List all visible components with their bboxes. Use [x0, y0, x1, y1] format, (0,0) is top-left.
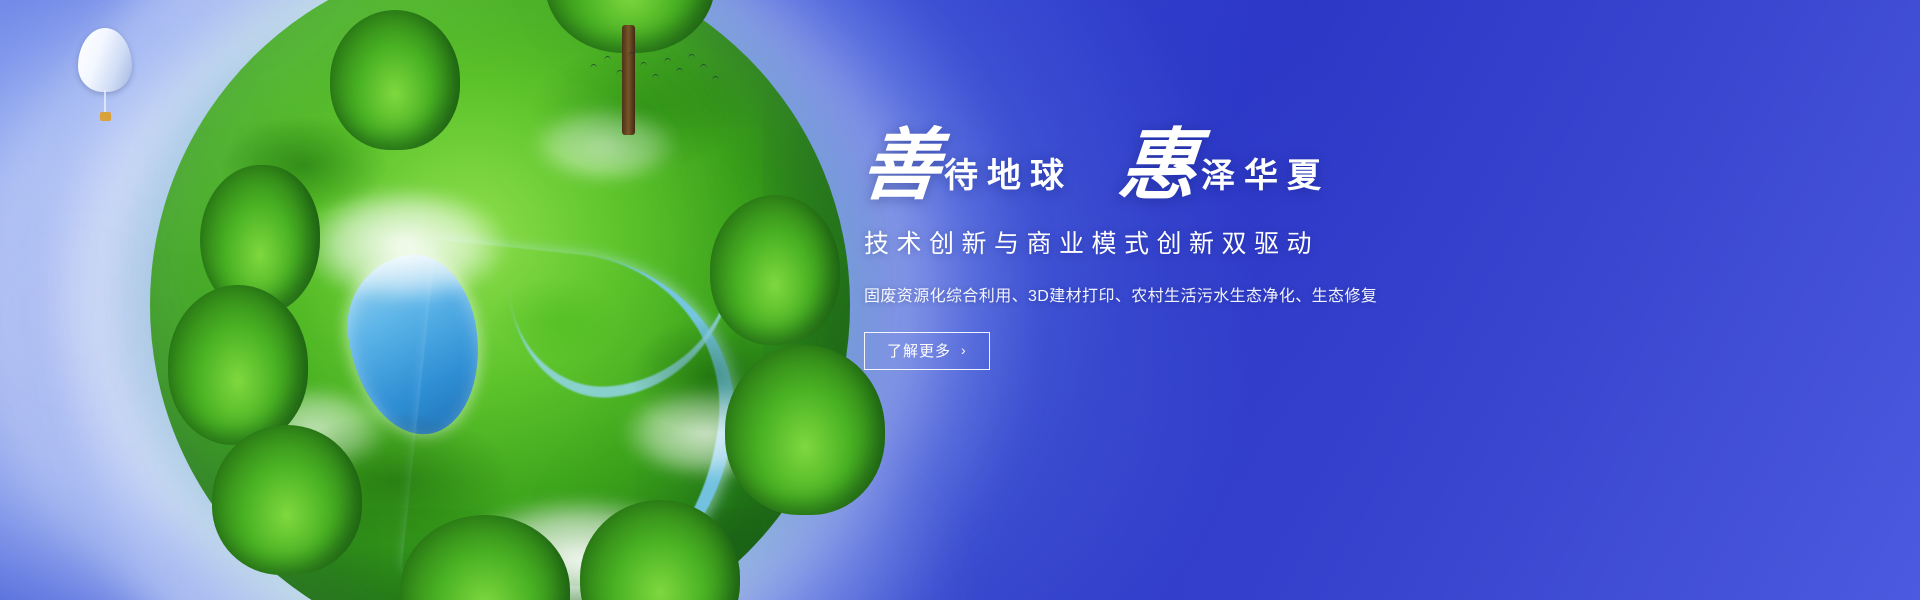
river-branch-shape [504, 197, 747, 404]
tree-shape [168, 285, 308, 445]
hero-banner: 善 待地球 惠 泽华夏 技术创新与商业模式创新双驱动 固废资源化综合利用、3D建… [0, 0, 1920, 600]
hero-copy: 善 待地球 惠 泽华夏 技术创新与商业模式创新双驱动 固废资源化综合利用、3D建… [862, 130, 1482, 370]
balloon-rope-shape [104, 90, 106, 114]
tree-shape [330, 10, 460, 150]
cloud-puff [530, 105, 680, 185]
tree-shape [710, 195, 840, 345]
headline-brush-char-1: 善 [859, 130, 947, 202]
hot-air-balloon-icon [78, 28, 138, 138]
learn-more-label: 了解更多 [887, 340, 951, 361]
headline-rest-1: 待地球 [944, 159, 1073, 202]
lake-shape [338, 247, 490, 443]
headline-brush-char-2: 惠 [1116, 130, 1204, 202]
cloud-puff [300, 185, 510, 305]
hero-headline: 善 待地球 惠 泽华夏 [862, 130, 1482, 202]
chevron-right-icon: › [961, 343, 967, 357]
balloon-envelope-shape [78, 28, 132, 92]
balloon-basket-shape [100, 112, 111, 121]
headline-rest-2: 泽华夏 [1201, 159, 1330, 202]
hero-subtitle: 技术创新与商业模式创新双驱动 [864, 224, 1482, 260]
globe-illustration [150, 0, 850, 600]
learn-more-button[interactable]: 了解更多 › [864, 332, 990, 370]
birds-flock-icon [590, 50, 730, 100]
tree-shape [725, 345, 885, 515]
hero-description: 固废资源化综合利用、3D建材打印、农村生活污水生态净化、生态修复 [864, 282, 1482, 306]
tree-shape [212, 425, 362, 575]
